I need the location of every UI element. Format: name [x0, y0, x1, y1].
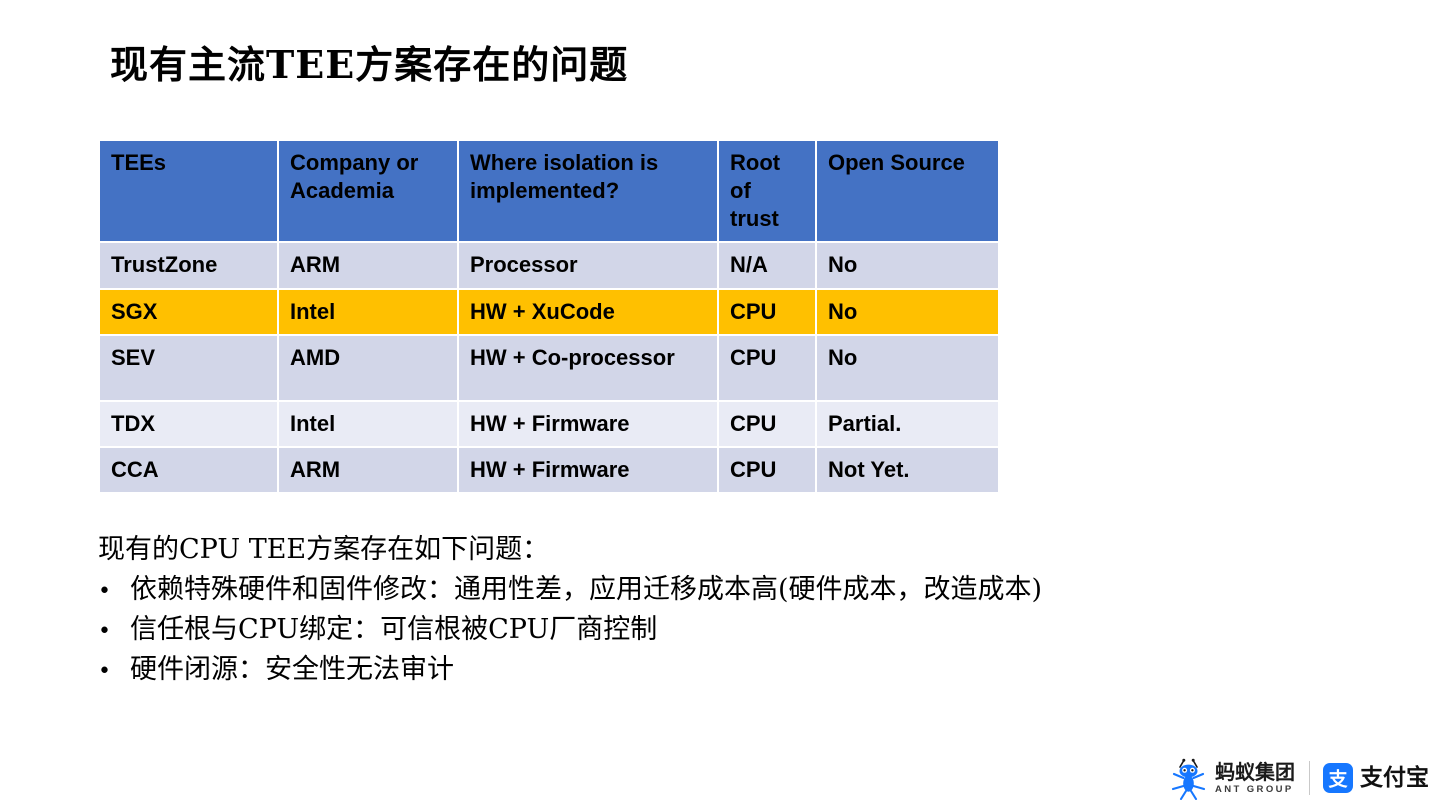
cell-isolation: HW + XuCode: [459, 290, 719, 336]
cell-company: Intel: [279, 290, 459, 336]
page-title: 现有主流TEE方案存在的问题: [110, 34, 628, 89]
ant-mascot-icon: [1168, 756, 1210, 800]
footer-logo-group: 蚂蚁集团 ANT GROUP 支 支付宝: [1168, 752, 1429, 804]
alipay-mark-icon: 支: [1323, 763, 1353, 793]
cell-open-source: No: [817, 290, 998, 336]
cell-isolation: HW + Co-processor: [459, 336, 719, 402]
cell-company: AMD: [279, 336, 459, 402]
table-row-highlighted: SGX Intel HW + XuCode CPU No: [100, 290, 998, 336]
table-row: CCA ARM HW + Firmware CPU Not Yet.: [100, 448, 998, 494]
list-item-label: 信任根与CPU绑定：可信根被CPU厂商控制: [130, 616, 1398, 643]
table-row: TDX Intel HW + Firmware CPU Partial.: [100, 402, 998, 448]
cell-root-of-trust: CPU: [719, 290, 817, 336]
cell-root-of-trust: CPU: [719, 448, 817, 494]
ant-group-name-cn: 蚂蚁集团: [1215, 762, 1295, 782]
column-header-root-of-trust: Root of trust: [719, 141, 817, 243]
cell-company: ARM: [279, 243, 459, 289]
ant-group-wordmark: 蚂蚁集团 ANT GROUP: [1215, 762, 1295, 795]
list-item: • 硬件闭源：安全性无法审计: [98, 656, 1398, 683]
table-row: TrustZone ARM Processor N/A No: [100, 243, 998, 289]
cell-company: ARM: [279, 448, 459, 494]
cell-tee: TrustZone: [100, 243, 279, 289]
alipay-name-cn: 支付宝: [1360, 767, 1429, 790]
table-body: TrustZone ARM Processor N/A No SGX Intel…: [100, 243, 998, 494]
cell-tee: SEV: [100, 336, 279, 402]
lead-paragraph: 现有的CPU TEE方案存在如下问题：: [98, 536, 1398, 563]
cell-open-source: No: [817, 336, 998, 402]
cell-company: Intel: [279, 402, 459, 448]
cell-open-source: No: [817, 243, 998, 289]
table-header-row: TEEs Company or Academia Where isolation…: [100, 141, 998, 243]
ant-group-logo: 蚂蚁集团 ANT GROUP: [1168, 756, 1295, 800]
ant-group-name-en: ANT GROUP: [1215, 785, 1295, 795]
cell-open-source: Partial.: [817, 402, 998, 448]
cell-isolation: HW + Firmware: [459, 402, 719, 448]
cell-isolation: Processor: [459, 243, 719, 289]
logo-divider: [1309, 761, 1310, 795]
column-header-company: Company or Academia: [279, 141, 459, 243]
svg-text:支: 支: [1327, 769, 1348, 791]
alipay-logo: 支 支付宝: [1323, 763, 1429, 793]
table-header: TEEs Company or Academia Where isolation…: [100, 141, 998, 243]
list-item: • 信任根与CPU绑定：可信根被CPU厂商控制: [98, 616, 1398, 643]
cell-isolation: HW + Firmware: [459, 448, 719, 494]
table-row: SEV AMD HW + Co-processor CPU No: [100, 336, 998, 402]
body-text-block: 现有的CPU TEE方案存在如下问题： • 依赖特殊硬件和固件修改：通用性差，应…: [98, 536, 1398, 696]
cell-root-of-trust: CPU: [719, 336, 817, 402]
list-item: • 依赖特殊硬件和固件修改：通用性差，应用迁移成本高(硬件成本，改造成本): [98, 576, 1398, 603]
cell-tee: CCA: [100, 448, 279, 494]
cell-open-source: Not Yet.: [817, 448, 998, 494]
cell-root-of-trust: CPU: [719, 402, 817, 448]
bullet-icon: •: [98, 621, 130, 643]
list-item-label: 依赖特殊硬件和固件修改：通用性差，应用迁移成本高(硬件成本，改造成本): [130, 576, 1398, 603]
tee-comparison-table: TEEs Company or Academia Where isolation…: [100, 141, 998, 494]
column-header-tees: TEEs: [100, 141, 279, 243]
cell-root-of-trust: N/A: [719, 243, 817, 289]
cell-tee: TDX: [100, 402, 279, 448]
bullet-icon: •: [98, 581, 130, 603]
column-header-open-source: Open Source: [817, 141, 998, 243]
column-header-isolation: Where isolation is implemented?: [459, 141, 719, 243]
bullet-icon: •: [98, 661, 130, 683]
list-item-label: 硬件闭源：安全性无法审计: [130, 656, 1398, 683]
cell-tee: SGX: [100, 290, 279, 336]
